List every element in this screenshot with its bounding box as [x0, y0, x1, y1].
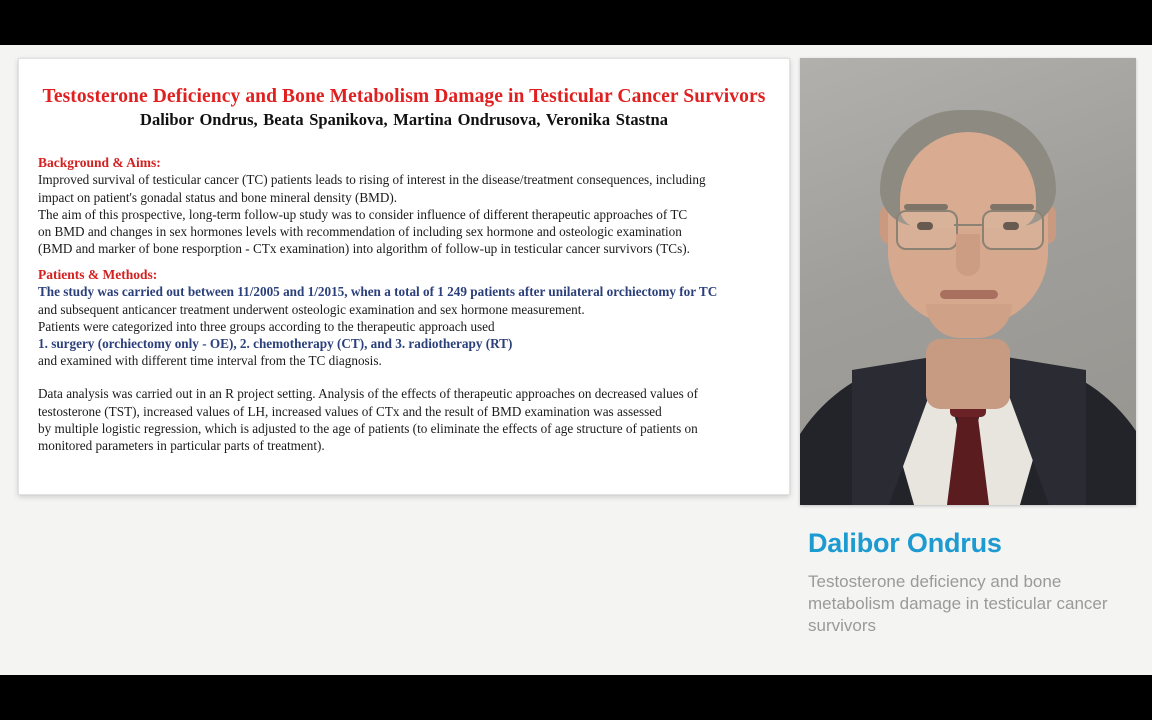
speaker-name: Dalibor Ondrus: [808, 527, 1136, 559]
section-text-study-period: The study was carried out between 11/200…: [38, 283, 774, 300]
presentation-stage: Testosterone Deficiency and Bone Metabol…: [0, 45, 1152, 675]
section-text-time-interval: and examined with different time interva…: [38, 352, 774, 369]
portrait-eyeglass-lens-right: [982, 210, 1044, 250]
section-text-group-list: 1. surgery (orchiectomy only - OE), 2. c…: [38, 335, 774, 352]
presentation-viewer: Testosterone Deficiency and Bone Metabol…: [0, 0, 1152, 720]
portrait-mouth: [940, 290, 998, 299]
portrait-nose: [956, 234, 980, 276]
section-text-data-analysis: Data analysis was carried out in an R pr…: [38, 385, 774, 454]
slide-authors: Dalibor Ondrus, Beata Spanikova, Martina…: [32, 111, 776, 130]
spacer: [38, 369, 774, 385]
section-heading-patients-methods: Patients & Methods:: [38, 266, 774, 283]
speaker-panel: Dalibor Ondrus Testosterone deficiency a…: [800, 58, 1136, 637]
section-text-background-aims: Improved survival of testicular cancer (…: [38, 171, 774, 257]
section-text-treatment-groups: and subsequent anticancer treatment unde…: [38, 301, 774, 335]
portrait-eyeglass-bridge: [954, 224, 982, 226]
letterbox-top-bar: [0, 0, 1152, 45]
slide-content: Testosterone Deficiency and Bone Metabol…: [28, 68, 780, 486]
spacer: [38, 257, 774, 266]
speaker-talk-title: Testosterone deficiency and bone metabol…: [808, 571, 1134, 637]
portrait-neck: [926, 339, 1010, 409]
speaker-portrait-image: [800, 58, 1136, 505]
letterbox-bottom-bar: [0, 675, 1152, 720]
portrait-eyeglass-lens-left: [896, 210, 958, 250]
slide-title: Testosterone Deficiency and Bone Metabol…: [32, 86, 776, 108]
section-heading-background-aims: Background & Aims:: [38, 154, 774, 171]
slide-panel[interactable]: Testosterone Deficiency and Bone Metabol…: [18, 58, 790, 495]
slide-body: Background & Aims: Improved survival of …: [38, 154, 774, 454]
